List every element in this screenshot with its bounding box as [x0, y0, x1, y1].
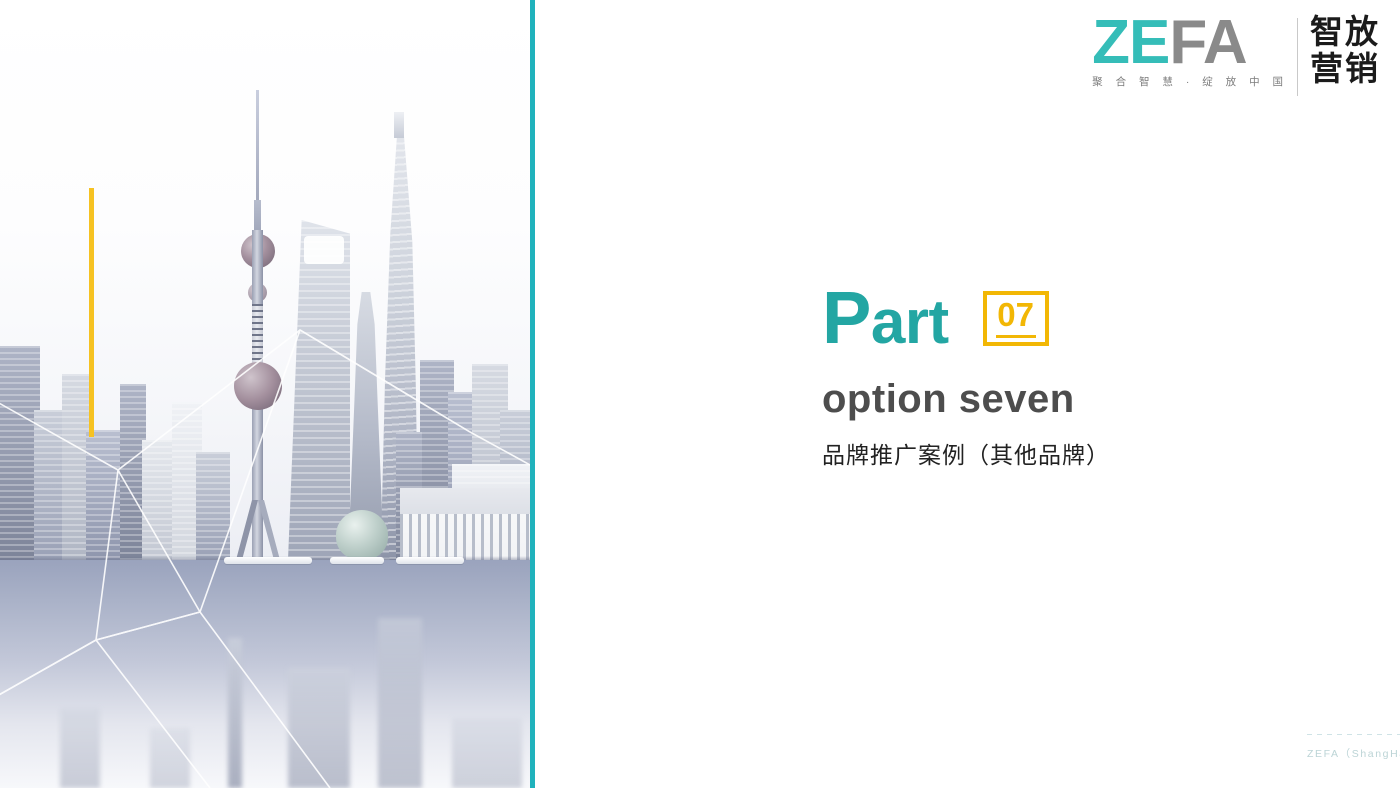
- logo-divider: [1297, 18, 1298, 96]
- logo-cn-char-1: 智: [1310, 14, 1343, 51]
- slide-root: ZEFA ZEFA 聚 合 智 慧 · 绽 放 中 国 智 放 营 销: [0, 0, 1400, 788]
- logo-wordmark-ze: ZE: [1092, 8, 1169, 77]
- section-number-underline: [996, 335, 1036, 338]
- logo-cn-char-2: 放: [1345, 14, 1378, 51]
- subtitle-english: option seven: [822, 377, 1110, 422]
- shanghai-skyline-photo: [0, 0, 532, 788]
- water-reflection: [0, 566, 532, 788]
- colonnade-building: [400, 488, 532, 560]
- footer-company: ZEFA（ShangHai）Marketing Mangement Co.Ltd: [1307, 746, 1400, 761]
- boat: [396, 557, 464, 564]
- right-content-panel: ZEFA 聚 合 智 慧 · 绽 放 中 国 智 放 营 销 Part 07: [535, 0, 1400, 788]
- logo-wordmark: ZEFA: [1092, 14, 1288, 71]
- logo-tagline: 聚 合 智 慧 · 绽 放 中 国: [1092, 74, 1288, 89]
- building-block: [196, 452, 230, 560]
- subtitle-chinese: 品牌推广案例（其他品牌）: [822, 436, 1110, 470]
- part-label: Part: [822, 281, 949, 355]
- section-number-badge: 07: [983, 291, 1049, 346]
- slide-footer: ZEFA（ShangHai）Marketing Mangement Co.Ltd…: [1307, 734, 1400, 761]
- shanghai-tower-spire: [394, 112, 404, 138]
- left-visual-panel: ZEFA: [0, 0, 532, 788]
- boat: [330, 557, 384, 564]
- gold-accent-bar: [89, 188, 94, 437]
- part-rest: art: [871, 288, 949, 357]
- section-number: 07: [997, 298, 1034, 331]
- section-headline: Part 07 option seven 品牌推广案例（其他品牌）: [822, 281, 1110, 470]
- logo-chinese-name: 智 放 营 销: [1310, 14, 1378, 88]
- logo-cn-char-3: 营: [1310, 51, 1343, 88]
- logo-wordmark-fa: FA: [1169, 8, 1246, 77]
- oriental-pearl-tower: [228, 90, 288, 560]
- part-initial: P: [822, 276, 871, 359]
- part-row: Part 07: [822, 281, 1110, 355]
- footer-text: ZEFA（ShangHai）Marketing Mangement Co.Ltd…: [1307, 746, 1400, 761]
- logo-cn-char-4: 销: [1345, 51, 1378, 88]
- boat: [224, 557, 312, 564]
- zefa-logo[interactable]: ZEFA 聚 合 智 慧 · 绽 放 中 国 智 放 营 销: [1092, 14, 1378, 89]
- logo-latin-block: ZEFA 聚 合 智 慧 · 绽 放 中 国: [1092, 14, 1298, 89]
- footer-dashed-rule: [1307, 734, 1400, 735]
- dome-building: [336, 510, 388, 560]
